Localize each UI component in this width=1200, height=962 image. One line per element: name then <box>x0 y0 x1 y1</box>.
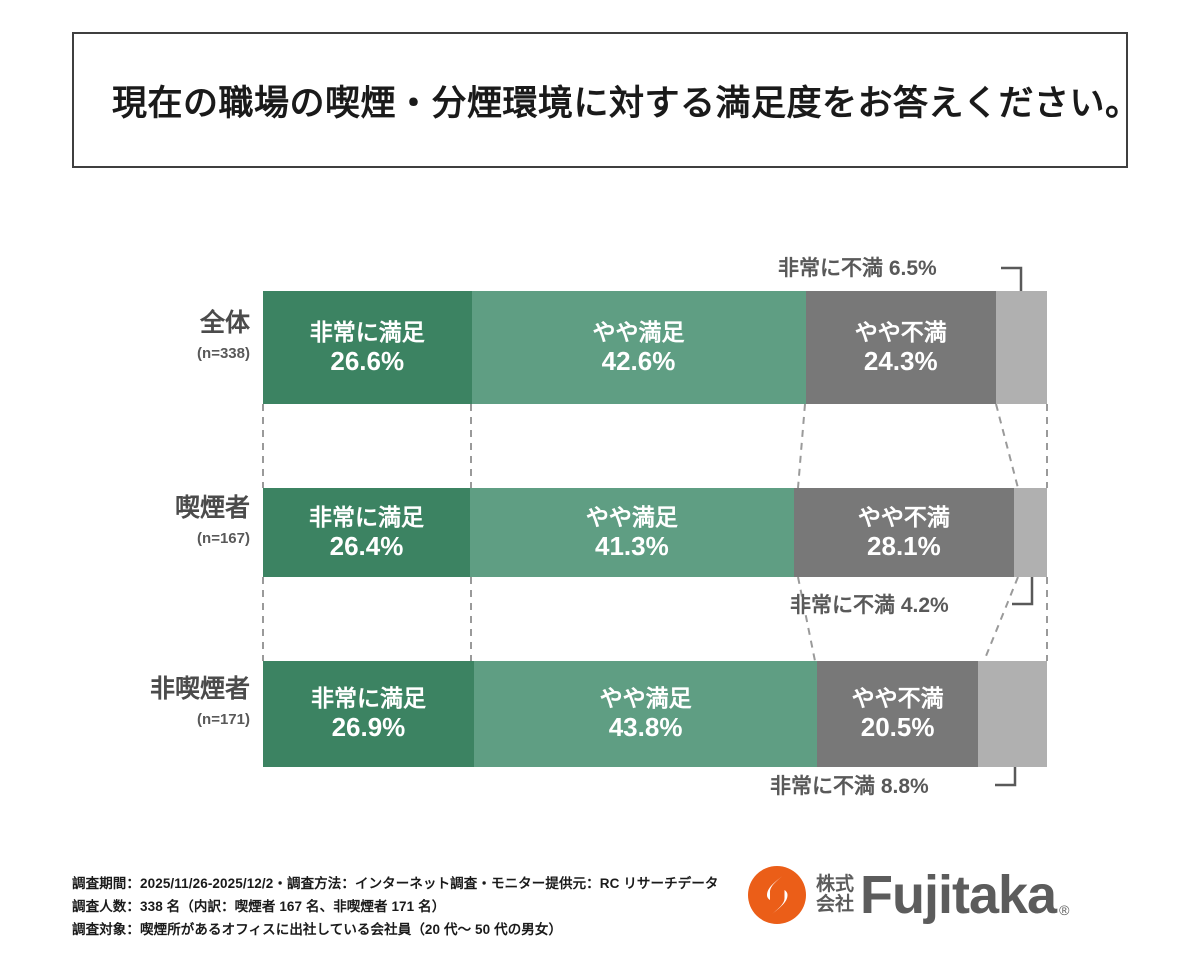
bar-overall: 非常に満足 26.6% やや満足 42.6% やや不満 24.3% 非常に不満 … <box>263 291 1047 404</box>
stacked-bar-chart: 全体 (n=338) 非常に満足 26.6% やや満足 42.6% やや不満 2… <box>0 0 1200 962</box>
segment-value: 26.4% <box>330 531 404 562</box>
segment-label: やや不満 <box>855 319 947 346</box>
segment-somewhat-dissatisfied[interactable]: やや不満 28.1% <box>794 488 1014 577</box>
company-wordmark: Fujitaka <box>860 868 1056 922</box>
survey-footnote: 調査期間：2025/11/26-2025/12/2・調査方法：インターネット調査… <box>72 872 719 942</box>
segment-value: 41.3% <box>595 531 669 562</box>
segment-value: 20.5% <box>861 712 935 743</box>
segment-value: 24.3% <box>864 346 938 377</box>
registered-trademark-symbol: ® <box>1059 902 1069 918</box>
segment-somewhat-dissatisfied[interactable]: やや不満 24.3% <box>806 291 997 404</box>
slide-root: 現在の職場の喫煙・分煙環境に対する満足度をお答えください。 <box>0 0 1200 962</box>
company-logo: 株式 会社 Fujitaka ® <box>748 866 1069 924</box>
row-label-nonsmokers: 非喫煙者 (n=171) <box>20 676 250 728</box>
connector-lines <box>0 0 1200 962</box>
segment-label: やや不満 <box>858 504 950 531</box>
row-label-overall: 全体 (n=338) <box>20 310 250 362</box>
callout-very-dissatisfied-nonsmokers: 非常に不満 8.8% <box>770 770 929 800</box>
segment-very-satisfied[interactable]: 非常に満足 26.6% <box>263 291 472 404</box>
row-name: 喫煙者 <box>20 495 250 523</box>
segment-label: やや満足 <box>586 504 678 531</box>
footnote-line-3: 調査対象：喫煙所があるオフィスに出社している会社員（20 代〜 50 代の男女） <box>72 918 719 941</box>
segment-label: やや満足 <box>593 319 685 346</box>
row-name: 全体 <box>20 310 250 338</box>
fujitaka-flame-icon <box>748 866 806 924</box>
segment-very-dissatisfied[interactable]: 非常に不満 6.5% <box>996 291 1047 404</box>
footnote-line-1: 調査期間：2025/11/26-2025/12/2・調査方法：インターネット調査… <box>72 872 719 895</box>
segment-value: 26.6% <box>330 346 404 377</box>
kabushiki-line-2: 会社 <box>816 895 854 915</box>
row-name: 非喫煙者 <box>20 676 250 704</box>
segment-label: 非常に満足 <box>309 504 424 531</box>
bar-smokers: 非常に満足 26.4% やや満足 41.3% やや不満 28.1% 非常に不満 … <box>263 488 1047 577</box>
segment-somewhat-satisfied[interactable]: やや満足 43.8% <box>474 661 817 767</box>
callout-very-dissatisfied-smokers: 非常に不満 4.2% <box>790 589 949 619</box>
row-sample-size: (n=167) <box>20 530 250 547</box>
segment-value: 42.6% <box>602 346 676 377</box>
segment-very-satisfied[interactable]: 非常に満足 26.4% <box>263 488 470 577</box>
segment-somewhat-satisfied[interactable]: やや満足 42.6% <box>472 291 806 404</box>
segment-somewhat-dissatisfied[interactable]: やや不満 20.5% <box>817 661 978 767</box>
segment-value: 28.1% <box>867 531 941 562</box>
segment-very-satisfied[interactable]: 非常に満足 26.9% <box>263 661 474 767</box>
segment-label: 非常に満足 <box>310 319 425 346</box>
row-sample-size: (n=171) <box>20 711 250 728</box>
segment-value: 26.9% <box>332 712 406 743</box>
segment-label: やや不満 <box>852 685 944 712</box>
bar-nonsmokers: 非常に満足 26.9% やや満足 43.8% やや不満 20.5% 非常に不満 … <box>263 661 1047 767</box>
company-type-text: 株式 会社 <box>816 875 854 915</box>
segment-very-dissatisfied[interactable]: 非常に不満 4.2% <box>1014 488 1047 577</box>
callout-very-dissatisfied-overall: 非常に不満 6.5% <box>778 252 937 282</box>
kabushiki-line-1: 株式 <box>816 875 854 895</box>
segment-label: やや満足 <box>600 685 692 712</box>
segment-value: 43.8% <box>609 712 683 743</box>
row-sample-size: (n=338) <box>20 345 250 362</box>
segment-somewhat-satisfied[interactable]: やや満足 41.3% <box>470 488 794 577</box>
row-label-smokers: 喫煙者 (n=167) <box>20 495 250 547</box>
segment-very-dissatisfied[interactable]: 非常に不満 8.8% <box>978 661 1047 767</box>
segment-label: 非常に満足 <box>311 685 426 712</box>
footnote-line-2: 調査人数：338 名（内訳：喫煙者 167 名、非喫煙者 171 名） <box>72 895 719 918</box>
